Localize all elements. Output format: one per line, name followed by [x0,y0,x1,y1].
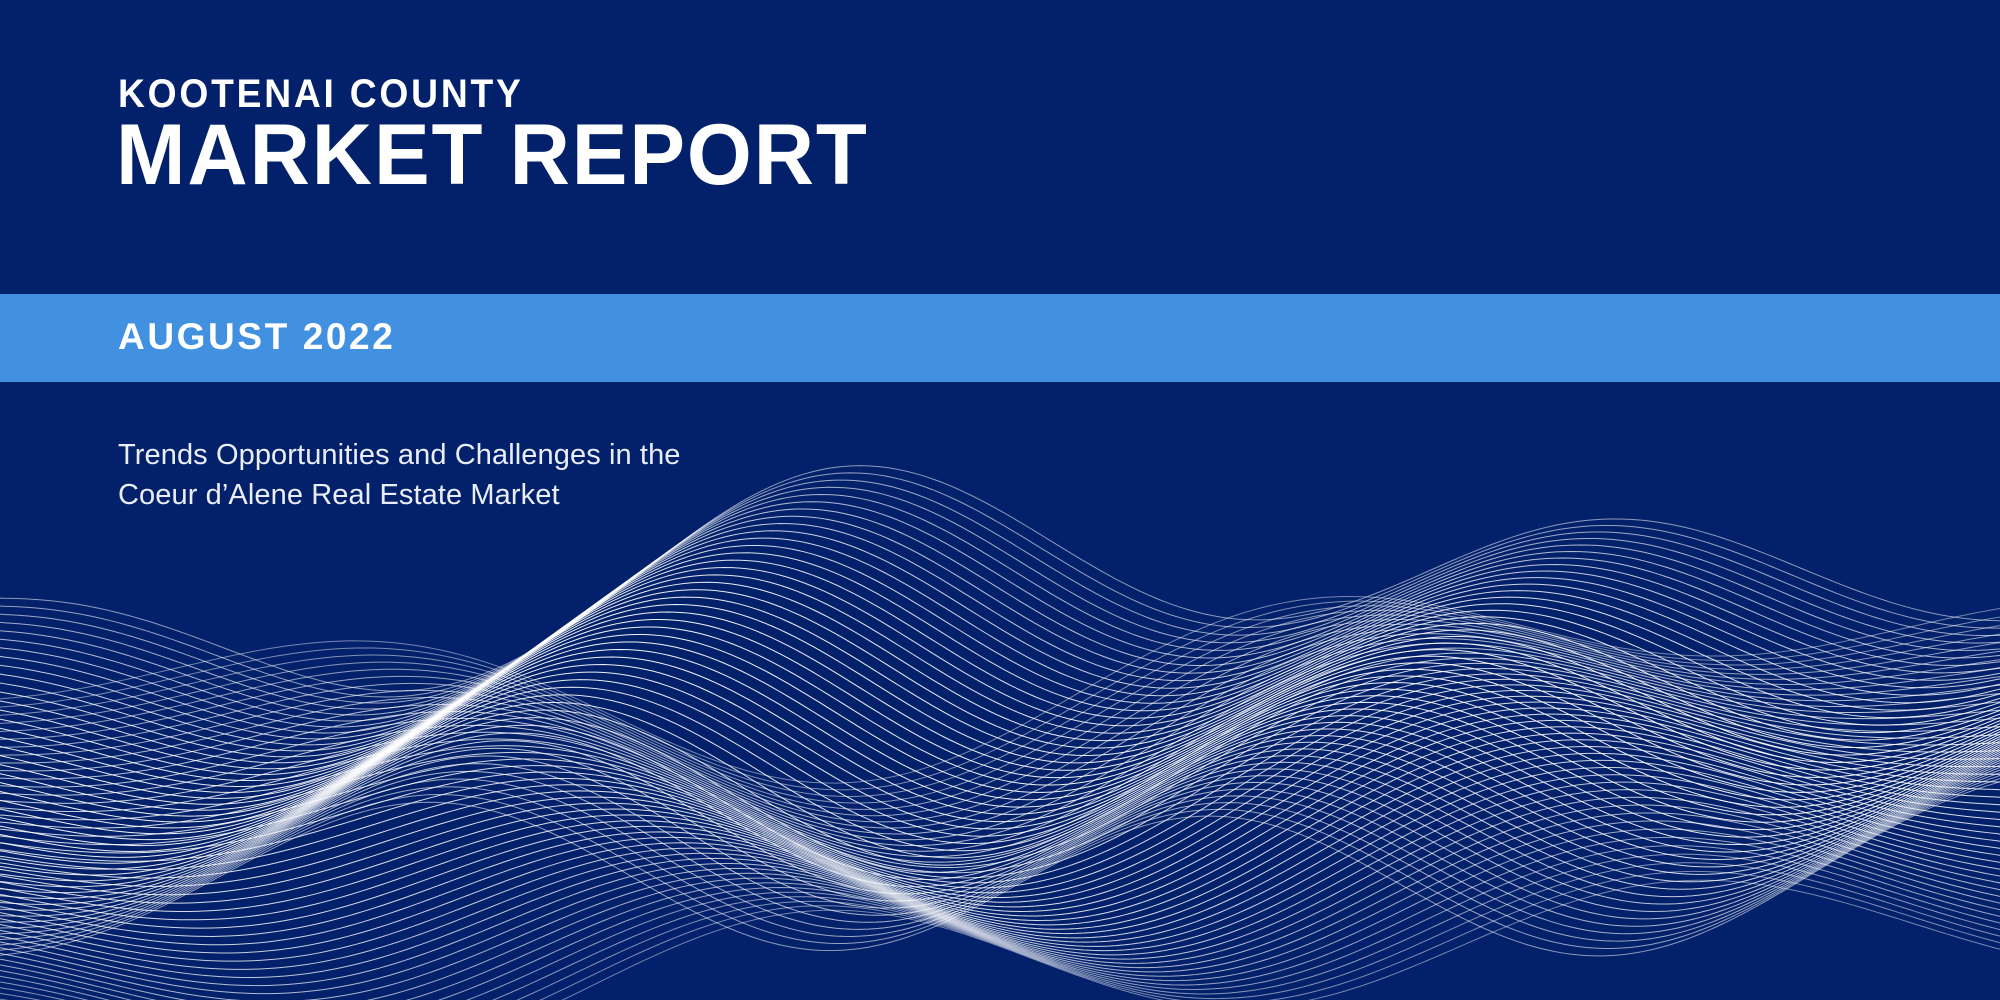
wave-line [0,760,2000,944]
report-date-label: AUGUST 2022 [118,318,395,355]
wave-line [0,663,2000,867]
wave-line [0,649,2000,839]
wave-line [0,657,2000,846]
wave-line [0,524,2000,739]
wave-line [0,568,2000,775]
wave-line [0,634,2000,834]
page-title: MARKET REPORT [116,112,869,198]
cover-header: KOOTENAI COUNTY MARKET REPORT [0,0,2000,294]
wave-line [0,690,2000,892]
wave-line [0,733,2000,925]
wave-line [0,756,2000,923]
wave-line [0,612,2000,810]
wave-line [0,582,2000,786]
wave-line [0,727,2000,921]
wave-line [0,685,2000,888]
wave-line [0,665,2000,852]
wave-line [0,720,2000,916]
wave-line [0,775,2000,958]
wave-line [0,740,2000,929]
wave-line [0,854,2000,1000]
wave-line [0,702,2000,880]
wave-line [0,553,2000,763]
wave-line [0,718,2000,893]
wave-line [0,880,2000,1000]
wave-line [0,679,2000,883]
wave-line [0,597,2000,798]
wave-line [0,708,2000,907]
date-band: AUGUST 2022 [0,294,2000,382]
wave-line [0,502,2000,721]
wave-line [0,771,2000,953]
wave-line [0,782,2000,969]
wave-line [0,821,2000,1000]
wave-line [0,696,2000,897]
wave-line [0,487,2000,709]
wave-line [0,643,2000,845]
wave-line [0,871,2000,1000]
wave-line [0,747,2000,934]
wave-line [0,560,2000,769]
wave-line [0,601,2000,790]
wave-line [0,624,2000,822]
wave-line [0,759,2000,929]
wave-line [0,672,2000,857]
wave-line [0,768,2000,953]
wave-line [0,658,2000,862]
subtitle-line-1: Trends Opportunities and Challenges in t… [118,435,681,475]
wave-line [0,765,2000,942]
wave-line [0,687,2000,869]
wave-line [0,790,2000,978]
wave-line [0,590,2000,793]
wave-line [0,863,2000,1000]
wave-line [0,629,2000,828]
wave-line [0,797,2000,985]
wave-line [0,733,2000,904]
wave-line [0,768,2000,947]
wave-line [0,702,2000,902]
wave-line [0,545,2000,756]
wave-line [0,805,2000,994]
wave-line [0,605,2000,805]
wave-line [0,725,2000,898]
wave-line [0,710,2000,887]
wave-line [0,610,2000,803]
wave-line [0,638,2000,839]
wave-line [0,829,2000,1000]
wave-line [0,509,2000,727]
wave-line [0,538,2000,751]
wave-line [0,619,2000,816]
wave-line [0,627,2000,822]
wave-line [0,748,2000,916]
wave-line [0,620,2000,816]
wave-line [0,648,2000,851]
wave-line [0,597,2000,784]
wave-line [0,762,2000,936]
wave-line [0,653,2000,857]
wave-line [0,669,2000,873]
subtitle: Trends Opportunities and Challenges in t… [118,435,681,515]
wave-line [0,531,2000,745]
wave-line [0,575,2000,781]
wave-line [0,714,2000,911]
wave-line [0,642,2000,834]
wave-line [0,674,2000,878]
wave-line [0,615,2000,809]
wave-line [0,753,2000,938]
wave-line [0,634,2000,827]
wave-line [0,516,2000,733]
wave-line [0,494,2000,715]
market-report-cover: KOOTENAI COUNTY MARKET REPORT AUGUST 202… [0,0,2000,1000]
wave-line [0,680,2000,864]
wave-line [0,741,2000,911]
subtitle-line-2: Coeur d’Alene Real Estate Market [118,475,681,515]
wave-line [0,695,2000,875]
wave-line [0,606,2000,797]
wave-line [0,846,2000,1000]
wave-line [0,813,2000,1000]
wave-line [0,837,2000,1000]
wave-line [0,775,2000,961]
